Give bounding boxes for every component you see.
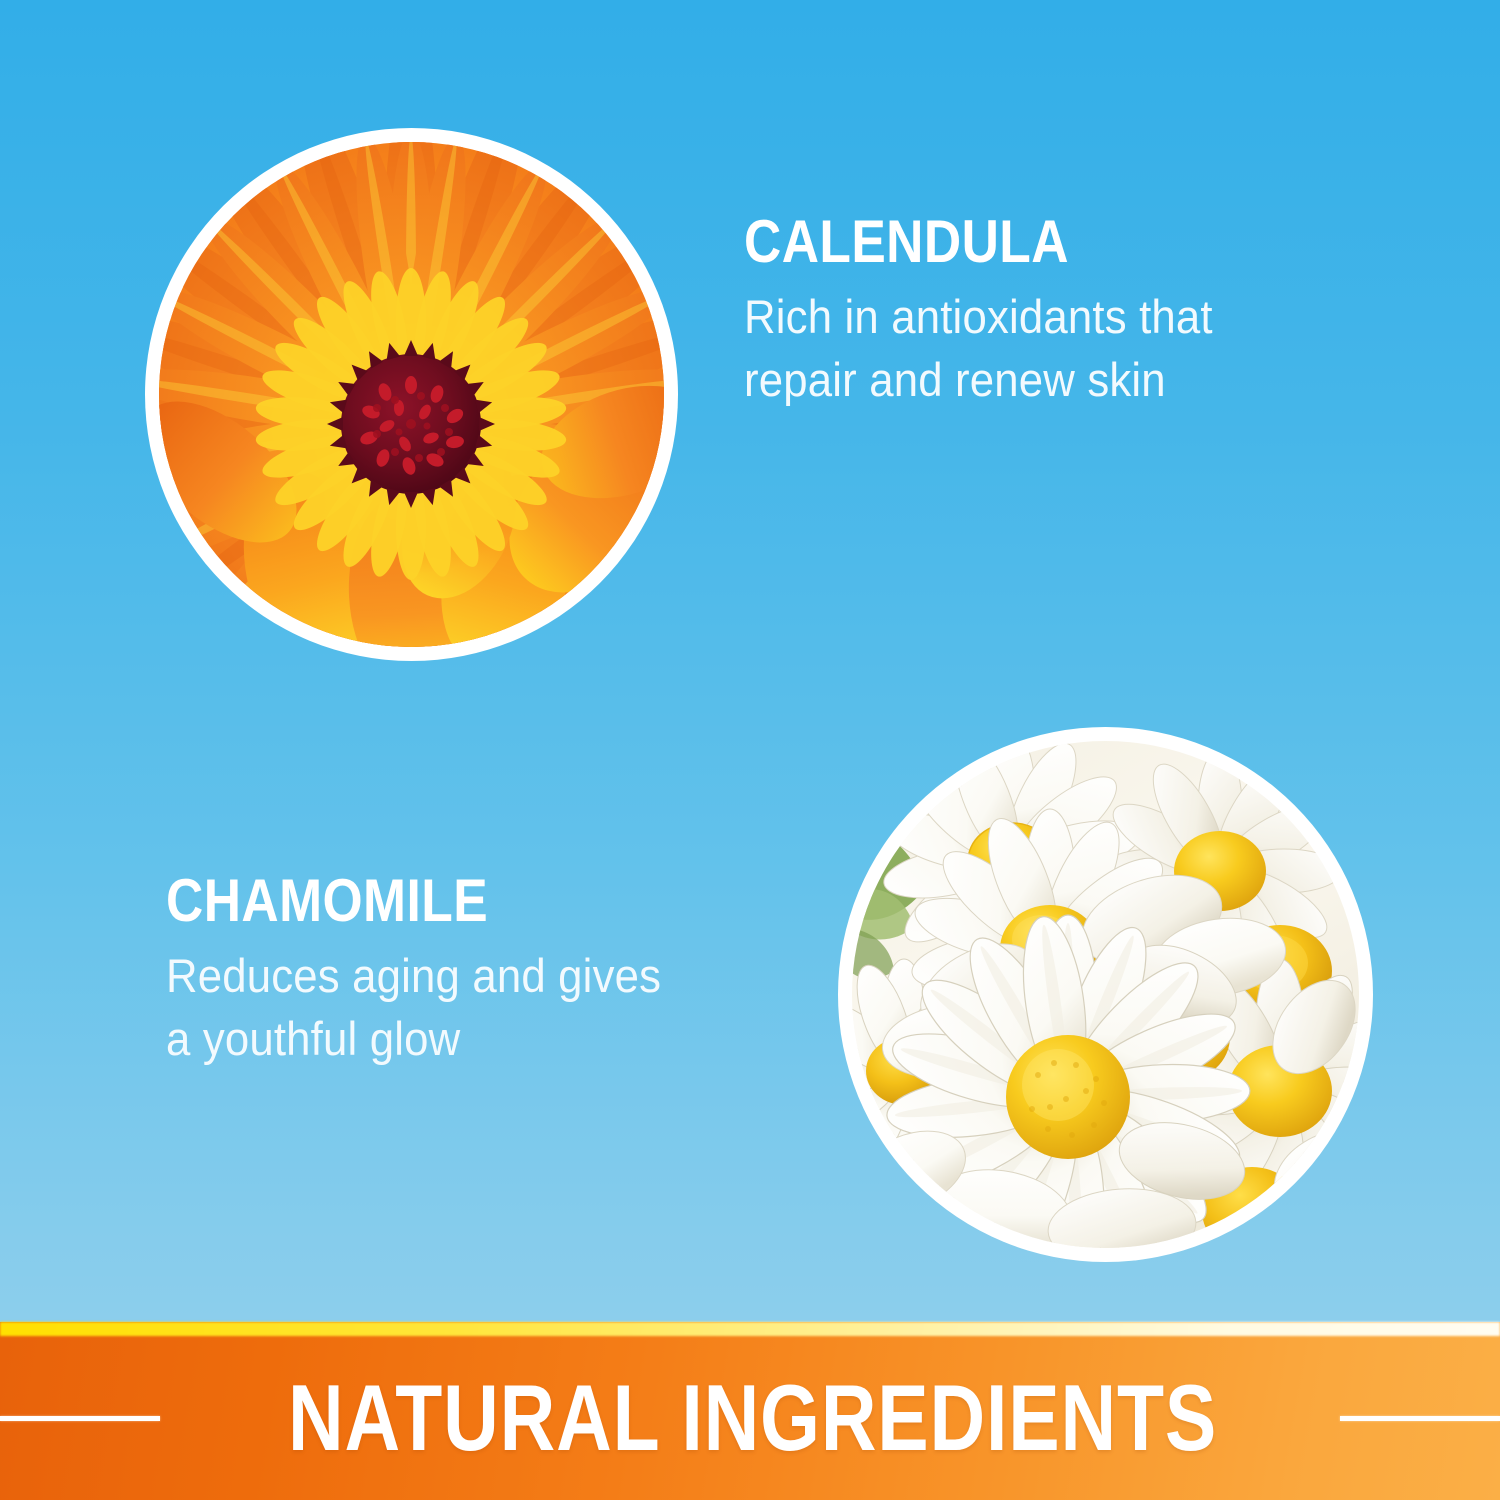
chamomile-photo-clip (852, 741, 1359, 1248)
chamomile-flowers-photo (852, 741, 1359, 1248)
calendula-name: CALENDULA (744, 212, 1177, 272)
calendula-description-line-1: Rich in antioxidants that (744, 286, 1213, 349)
calendula-center-disc (327, 340, 495, 508)
calendula-flower-photo (159, 142, 664, 647)
chamomile-info-block: CHAMOMILE Reduces aging and gives a yout… (166, 871, 698, 1070)
natural-ingredients-banner: NATURAL INGREDIENTS (0, 1322, 1500, 1500)
banner-content: NATURAL INGREDIENTS (0, 1336, 1500, 1500)
chamomile-name: CHAMOMILE (166, 871, 624, 931)
calendula-description-line-2: repair and renew skin (744, 349, 1213, 412)
banner-rule-left (0, 1416, 160, 1421)
calendula-photo-clip (159, 142, 664, 647)
banner-rule-right (1340, 1416, 1500, 1421)
chamomile-description: Reduces aging and gives a youthful glow (166, 945, 661, 1070)
calendula-info-block: CALENDULA Rich in antioxidants that repa… (744, 212, 1248, 411)
banner-top-glow (0, 1322, 1500, 1336)
natural-ingredients-infographic: CALENDULA Rich in antioxidants that repa… (0, 0, 1500, 1500)
banner-title: NATURAL INGREDIENTS (288, 1371, 1217, 1465)
chamomile-image-medallion (838, 727, 1373, 1262)
chamomile-description-line-2: a youthful glow (166, 1008, 661, 1071)
chamomile-description-line-1: Reduces aging and gives (166, 945, 661, 1008)
calendula-description: Rich in antioxidants that repair and ren… (744, 286, 1213, 411)
calendula-image-medallion (145, 128, 678, 661)
